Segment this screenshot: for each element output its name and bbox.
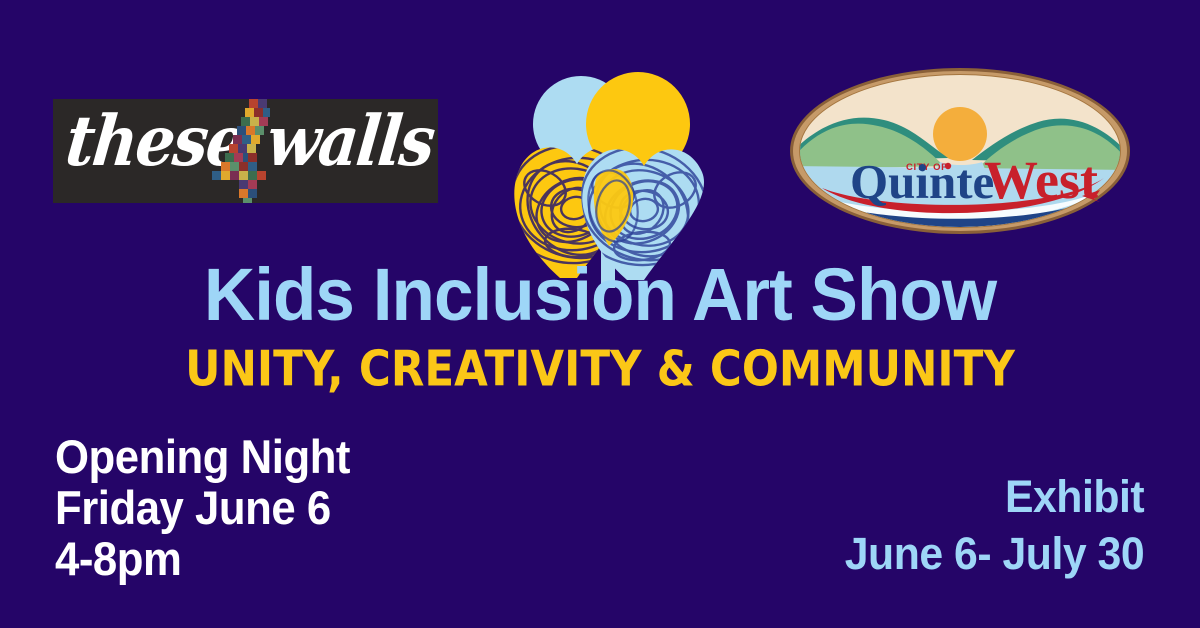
these-four-walls-word-walls: walls (264, 107, 437, 176)
exhibit-line-2: June 6- July 30 (845, 525, 1144, 582)
quinte-west-word-west: West (984, 150, 1098, 210)
page-title: Kids Inclusion Art Show (24, 258, 1176, 332)
poster-canvas: these (0, 0, 1200, 628)
quinte-west-sun-icon (933, 107, 987, 161)
opening-night-line-3: 4-8pm (55, 533, 350, 584)
quinte-west-word-quinte: Quinte (850, 154, 994, 209)
quinte-west-logo: CITY OF Quinte West (788, 66, 1132, 236)
these-four-walls-numeral-four-mosaic-icon (205, 99, 275, 203)
these-four-walls-logo: these (53, 99, 438, 203)
exhibit-dates-block: Exhibit June 6- July 30 (845, 468, 1144, 582)
opening-night-block: Opening Night Friday June 6 4-8pm (55, 431, 350, 584)
exhibit-line-1: Exhibit (845, 468, 1144, 525)
opening-night-line-2: Friday June 6 (55, 482, 350, 533)
page-subtitle: UNITY, CREATIVITY & COMMUNITY (6, 345, 1194, 394)
opening-night-line-1: Opening Night (55, 431, 350, 482)
